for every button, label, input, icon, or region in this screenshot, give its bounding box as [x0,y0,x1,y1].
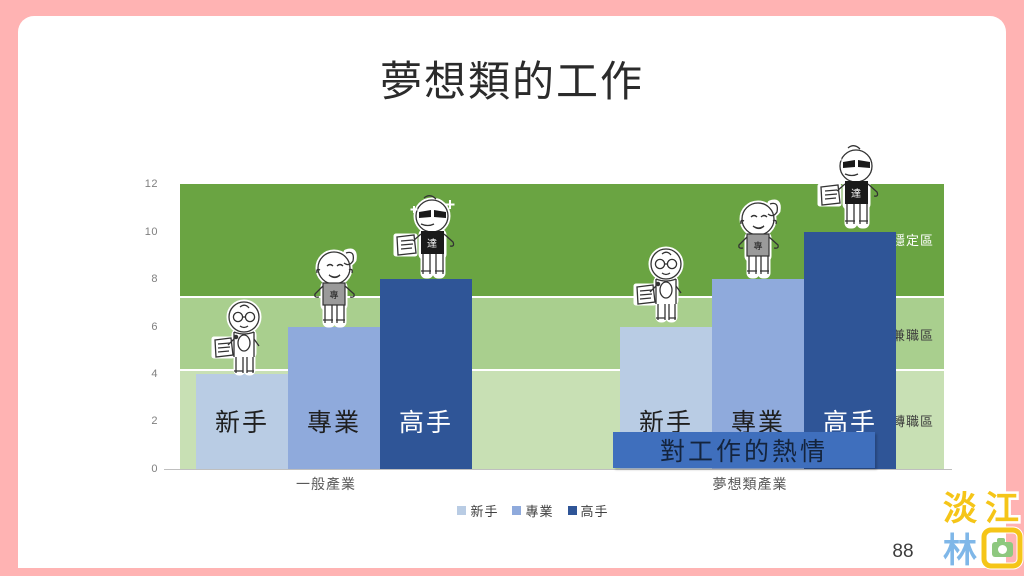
legend-swatch-professional [512,506,521,515]
svg-text:林: 林 [943,531,977,571]
category-label-general: 一般產業 [180,474,472,494]
legend-label-novice: 新手 [470,501,498,520]
professional-character: 專 [302,246,368,328]
bar-g1-novice[interactable]: 新手 [196,374,288,469]
svg-text:專: 專 [329,289,338,301]
y-tick-2: 2 [151,415,158,427]
callout-text: 對工作的熱情 [660,432,828,468]
legend-swatch-novice [457,506,466,515]
svg-text:專: 專 [753,240,762,252]
zone-label-switch: 轉職區 [892,411,934,430]
novice-character [210,299,276,377]
page-number: 88 [873,541,933,563]
y-axis: 12 10 8 6 4 2 0 [68,184,176,469]
svg-text:淡: 淡 [943,489,978,529]
y-tick-0: 0 [151,463,158,475]
chart-legend: 新手 專業 高手 [68,501,998,520]
y-tick-6: 6 [151,321,158,333]
bar-label-g1-professional: 專業 [288,403,380,439]
legend-item-professional[interactable]: 專業 [512,501,553,520]
professional-character: 專 [726,197,792,279]
slide-page: 夢想類的工作 12 10 8 6 4 2 0 穩定區 兼職區 [18,16,1006,568]
bar-chart: 12 10 8 6 4 2 0 穩定區 兼職區 轉職區 [68,156,998,526]
svg-text:江: 江 [985,489,1019,529]
master-character: 達 [816,142,888,232]
y-tick-8: 8 [151,273,158,285]
legend-label-master: 高手 [581,501,609,520]
category-label-dream: 夢想類產業 [604,474,896,494]
plot-area: 穩定區 兼職區 轉職區 新手 專業 高手 [180,184,944,469]
bar-g1-professional[interactable]: 專業 [288,327,380,470]
legend-label-professional: 專業 [525,501,553,520]
x-axis-line [164,469,952,470]
tamkang-lin-camera-logo: 淡 江 林 [940,486,1024,576]
legend-item-novice[interactable]: 新手 [457,501,498,520]
y-tick-4: 4 [151,368,158,380]
callout-box[interactable]: 對工作的熱情 [613,432,875,468]
legend-swatch-master [568,506,577,515]
bar-label-g1-novice: 新手 [196,403,288,439]
y-tick-10: 10 [145,226,158,238]
novice-character [632,246,698,324]
legend-item-master[interactable]: 高手 [568,501,609,520]
page-title: 夢想類的工作 [18,48,1006,109]
svg-text:達: 達 [851,188,861,200]
bar-label-g1-master: 高手 [380,403,472,439]
zone-label-parttime: 兼職區 [892,325,934,344]
master-character: 達 [392,192,464,282]
zone-label-stable: 穩定區 [892,230,934,249]
y-tick-12: 12 [145,178,158,190]
svg-text:達: 達 [427,238,437,250]
bar-g1-master[interactable]: 高手 [380,279,472,469]
slide-root: 夢想類的工作 12 10 8 6 4 2 0 穩定區 兼職區 [0,0,1024,576]
